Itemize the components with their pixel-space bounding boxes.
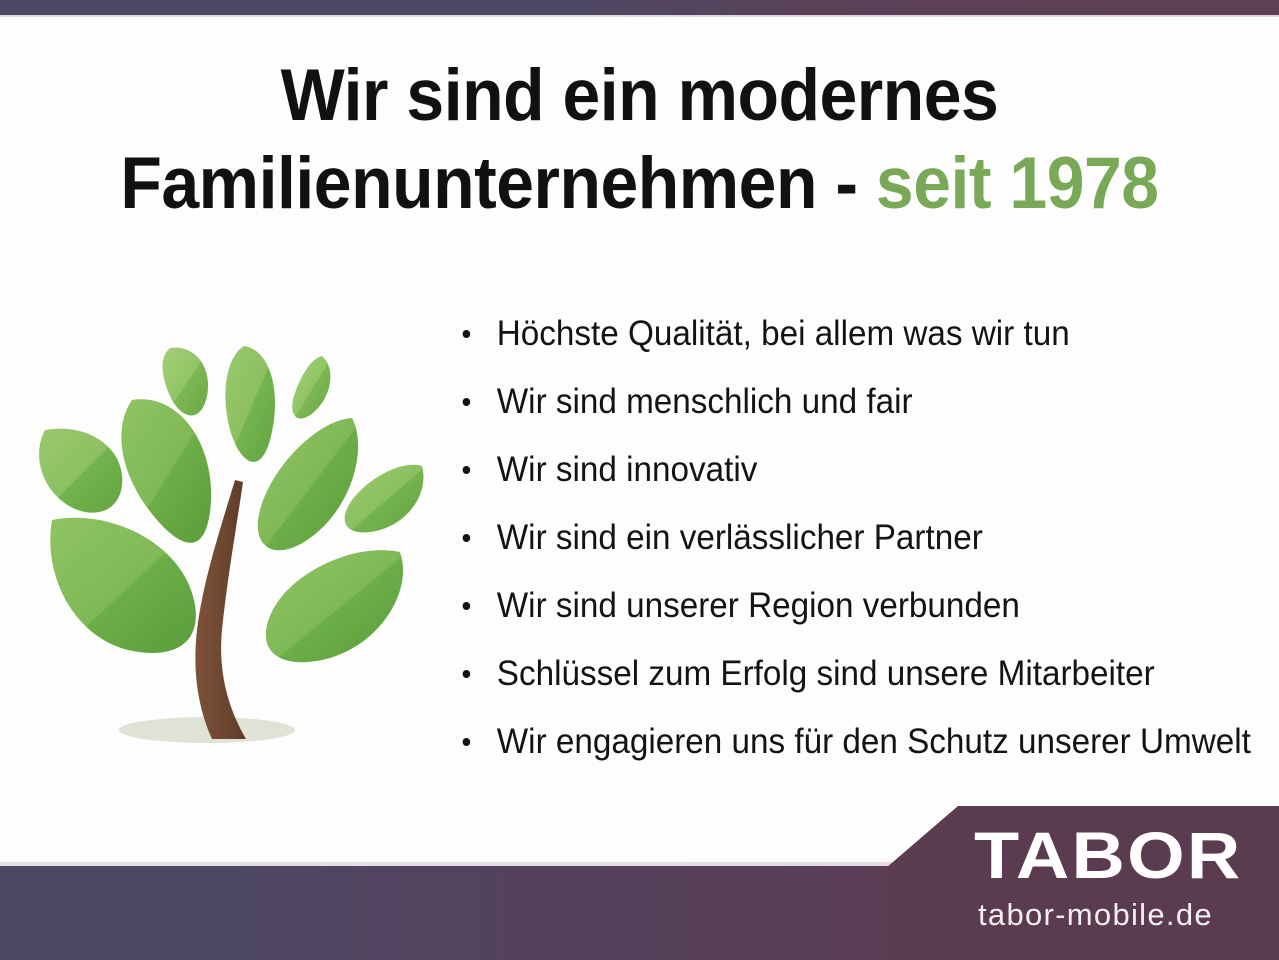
list-item: Höchste Qualität, bei allem was wir tun bbox=[455, 300, 1225, 368]
list-item-label: Höchste Qualität, bei allem was wir tun bbox=[497, 314, 1070, 353]
headline-line-2: Familienunternehmen - seit 1978 bbox=[45, 140, 1234, 228]
page-title: Wir sind ein modernes Familienunternehme… bbox=[45, 52, 1234, 228]
tree-leaf-left-upper bbox=[121, 399, 211, 543]
tree-logo-illustration bbox=[22, 330, 442, 760]
brand-tagline-url: tabor-mobile.de bbox=[978, 898, 1213, 932]
top-bar-hairline bbox=[0, 15, 1279, 17]
brand-wordmark: TABOR bbox=[974, 822, 1243, 888]
tree-leaf-right-mid bbox=[345, 465, 424, 533]
list-item-label: Wir engagieren uns für den Schutz unsere… bbox=[497, 722, 1251, 761]
list-item: Wir sind unserer Region verbunden bbox=[455, 572, 1225, 640]
tree-leaf-top-center bbox=[225, 346, 275, 462]
bullet-point-icon bbox=[463, 534, 471, 542]
list-item-label: Wir sind menschlich und fair bbox=[497, 382, 913, 421]
brand-logo-block[interactable]: TABOR tabor-mobile.de bbox=[886, 806, 1279, 960]
bullet-point-icon bbox=[463, 330, 471, 338]
list-item-label: Wir sind unserer Region verbunden bbox=[497, 586, 1020, 625]
list-item-label: Wir sind ein verlässlicher Partner bbox=[497, 518, 983, 557]
bullet-point-icon bbox=[463, 670, 471, 678]
bullet-point-icon bbox=[463, 602, 471, 610]
list-item-label: Schlüssel zum Erfolg sind unsere Mitarbe… bbox=[497, 654, 1155, 693]
headline-accent-year: seit 1978 bbox=[876, 143, 1159, 224]
tree-leaf-left-mid bbox=[39, 429, 122, 513]
bullet-point-icon bbox=[463, 738, 471, 746]
top-decorative-bar bbox=[0, 0, 1279, 15]
list-item-label: Wir sind innovativ bbox=[497, 450, 758, 489]
tree-leaf-right-upper bbox=[258, 418, 358, 550]
list-item: Wir sind ein verlässlicher Partner bbox=[455, 504, 1225, 572]
list-item: Wir sind innovativ bbox=[455, 436, 1225, 504]
slide-canvas: Wir sind ein modernes Familienunternehme… bbox=[0, 0, 1279, 960]
headline-line-1: Wir sind ein modernes bbox=[45, 52, 1234, 140]
list-item: Schlüssel zum Erfolg sind unsere Mitarbe… bbox=[455, 640, 1225, 708]
bullet-point-icon bbox=[463, 466, 471, 474]
tree-leaf-top-left bbox=[163, 348, 209, 416]
list-item: Wir engagieren uns für den Schutz unsere… bbox=[455, 708, 1225, 776]
bullet-point-icon bbox=[463, 398, 471, 406]
headline-line-2-main: Familienunternehmen - bbox=[120, 143, 876, 224]
tree-leaf-top-right bbox=[292, 356, 330, 419]
tree-leaf-left-lower bbox=[50, 518, 196, 653]
tree-leaf-right-lower bbox=[266, 550, 403, 662]
list-item: Wir sind menschlich und fair bbox=[455, 368, 1225, 436]
value-proposition-list: Höchste Qualität, bei allem was wir tun … bbox=[455, 300, 1265, 776]
